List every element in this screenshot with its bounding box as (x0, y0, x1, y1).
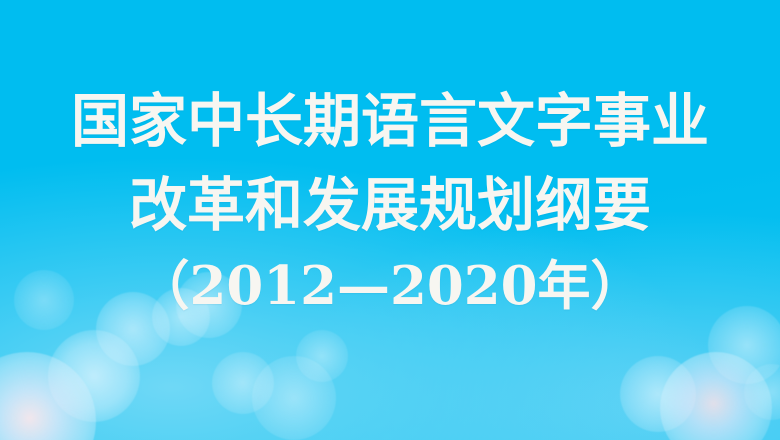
title-line-period: （2012—2020年） (0, 260, 780, 313)
poster-slide: 国家中长期语言文字事业 改革和发展规划纲要 （2012—2020年） (0, 0, 780, 440)
title-line-secondary: 改革和发展规划纲要 (0, 176, 780, 234)
title-block: 国家中长期语言文字事业 改革和发展规划纲要 （2012—2020年） (0, 92, 780, 313)
title-line-primary: 国家中长期语言文字事业 (0, 92, 780, 150)
